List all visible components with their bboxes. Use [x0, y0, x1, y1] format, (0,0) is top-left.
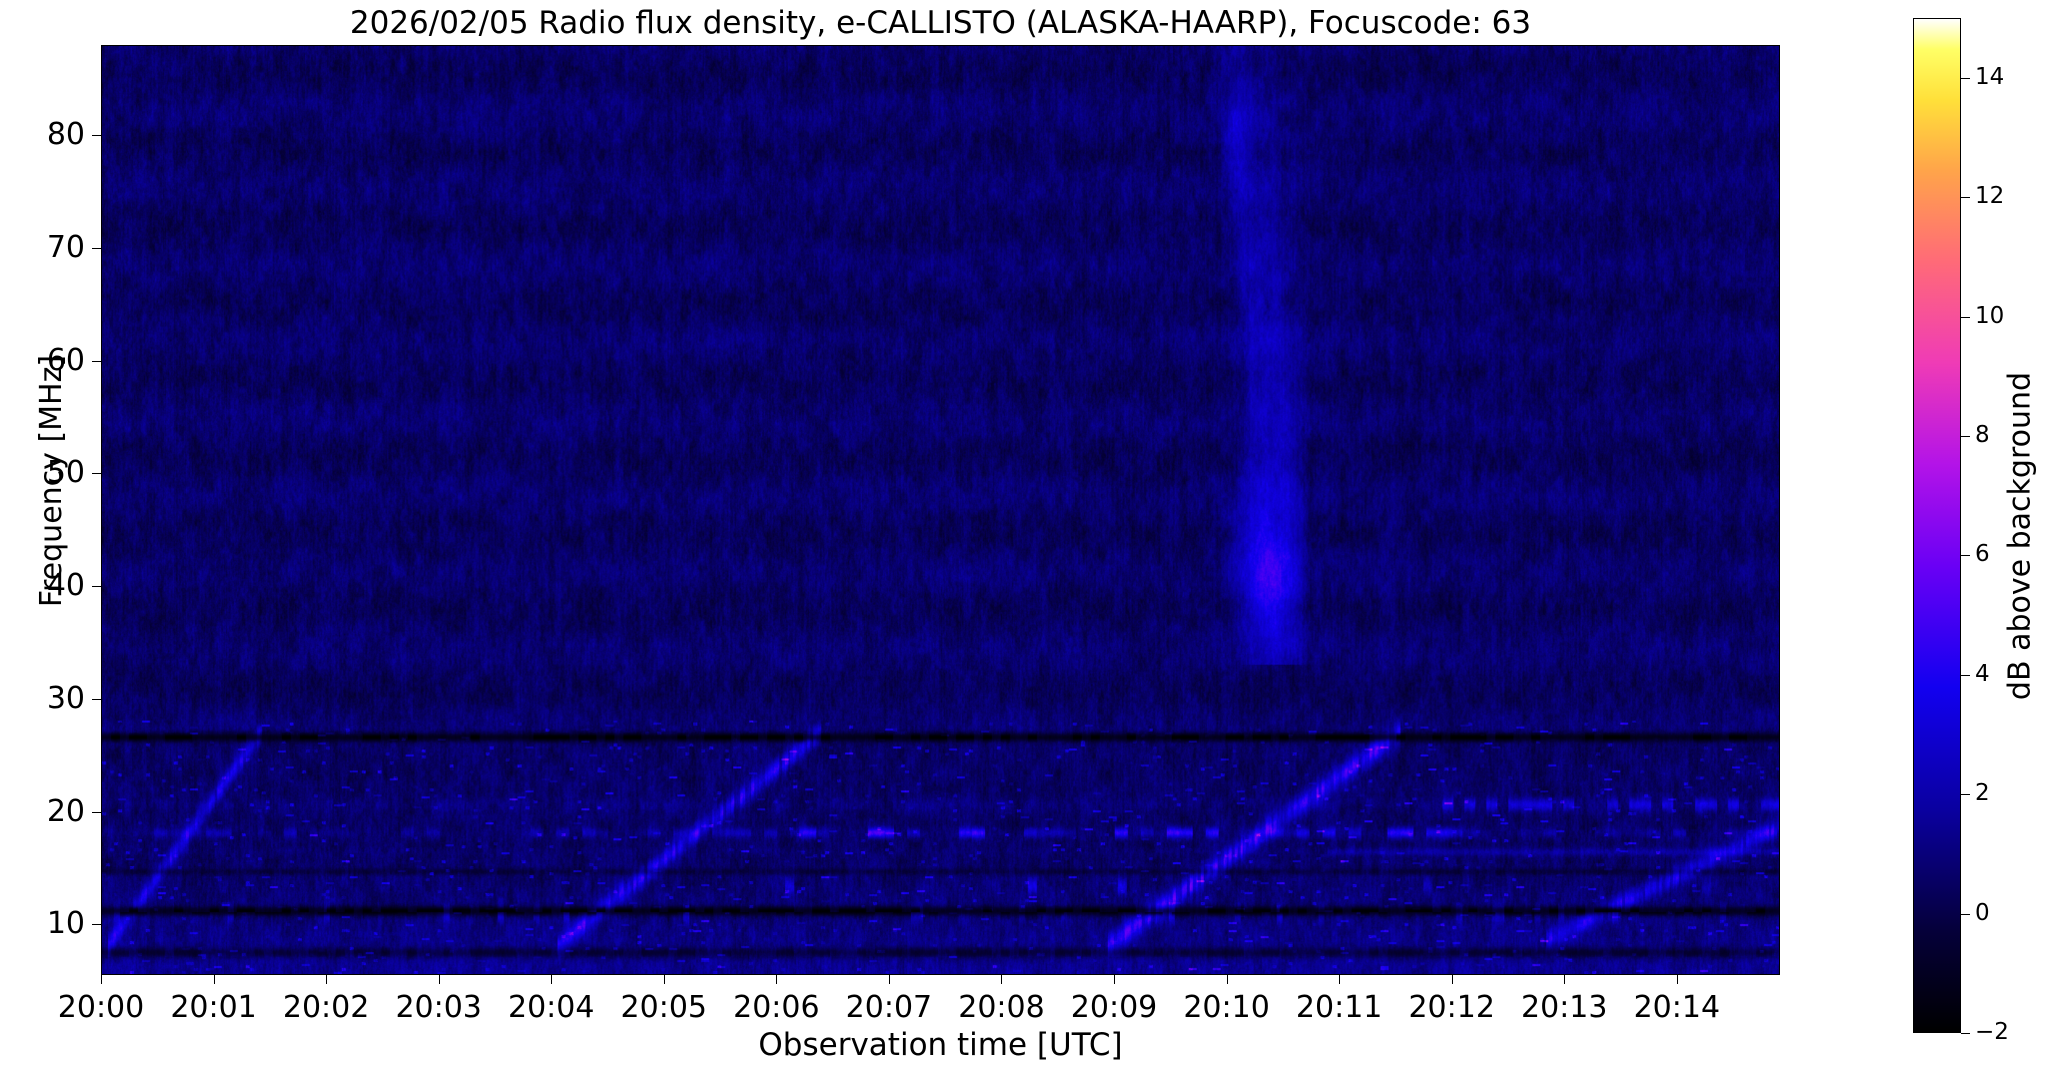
- spectrogram-image: [102, 46, 1779, 974]
- x-tick-label: 20:13: [1521, 992, 1607, 1024]
- y-tick-mark: [92, 135, 101, 136]
- x-tick-label: 20:01: [170, 992, 256, 1024]
- x-tick-label: 20:06: [733, 992, 819, 1024]
- x-tick-label: 20:11: [1296, 992, 1382, 1024]
- x-tick-mark: [889, 975, 890, 984]
- x-tick-label: 20:12: [1408, 992, 1494, 1024]
- x-tick-mark: [1227, 975, 1228, 984]
- y-tick-label: 70: [47, 233, 85, 263]
- colorbar-tick-mark: [1961, 197, 1970, 198]
- x-tick-label: 20:05: [621, 992, 707, 1024]
- y-tick-label: 50: [47, 458, 85, 488]
- x-tick-mark: [664, 975, 665, 984]
- x-tick-label: 20:07: [846, 992, 932, 1024]
- colorbar-tick-label: 4: [1975, 663, 1990, 686]
- x-tick-label: 20:03: [395, 992, 481, 1024]
- x-tick-mark: [326, 975, 327, 984]
- figure-title: 2026/02/05 Radio flux density, e-CALLIST…: [101, 6, 1780, 40]
- colorbar-tick-label: 14: [1975, 66, 2004, 89]
- y-tick-mark: [92, 924, 101, 925]
- x-tick-label: 20:10: [1183, 992, 1269, 1024]
- spectrogram-axes: [101, 45, 1780, 975]
- colorbar-tick-label: 8: [1975, 424, 1990, 447]
- x-tick-label: 20:09: [1071, 992, 1157, 1024]
- y-tick-mark: [92, 248, 101, 249]
- x-tick-label: 20:02: [283, 992, 369, 1024]
- x-tick-label: 20:08: [958, 992, 1044, 1024]
- y-tick-mark: [92, 473, 101, 474]
- x-tick-mark: [1001, 975, 1002, 984]
- x-tick-mark: [1114, 975, 1115, 984]
- colorbar-tick-mark: [1961, 794, 1970, 795]
- y-tick-mark: [92, 812, 101, 813]
- y-tick-label: 20: [47, 797, 85, 827]
- y-tick-label: 80: [47, 120, 85, 150]
- x-axis-label: Observation time [UTC]: [101, 1028, 1780, 1062]
- x-tick-mark: [1677, 975, 1678, 984]
- x-tick-mark: [1452, 975, 1453, 984]
- colorbar-tick-mark: [1961, 675, 1970, 676]
- spectrogram-figure: 2026/02/05 Radio flux density, e-CALLIST…: [0, 0, 2047, 1067]
- y-tick-label: 30: [47, 684, 85, 714]
- x-tick-mark: [1339, 975, 1340, 984]
- colorbar-tick-label: 6: [1975, 543, 1990, 566]
- y-tick-mark: [92, 586, 101, 587]
- y-tick-mark: [92, 699, 101, 700]
- colorbar-tick-mark: [1961, 436, 1970, 437]
- x-tick-mark: [551, 975, 552, 984]
- x-tick-mark: [776, 975, 777, 984]
- colorbar-label: dB above background: [2005, 29, 2037, 1044]
- colorbar-tick-label: 0: [1975, 902, 1990, 925]
- colorbar-tick-mark: [1961, 317, 1970, 318]
- x-tick-mark: [101, 975, 102, 984]
- x-tick-label: 20:14: [1634, 992, 1720, 1024]
- colorbar-tick-mark: [1961, 555, 1970, 556]
- colorbar-tick-label: 10: [1975, 305, 2004, 328]
- colorbar: [1913, 18, 1961, 1033]
- colorbar-tick-label: 12: [1975, 185, 2004, 208]
- x-tick-mark: [439, 975, 440, 984]
- y-tick-mark: [92, 361, 101, 362]
- colorbar-gradient: [1914, 19, 1960, 1032]
- x-tick-label: 20:00: [58, 992, 144, 1024]
- x-tick-mark: [1564, 975, 1565, 984]
- colorbar-tick-label: 2: [1975, 782, 1990, 805]
- y-tick-label: 60: [47, 346, 85, 376]
- x-tick-label: 20:04: [508, 992, 594, 1024]
- y-tick-label: 10: [47, 909, 85, 939]
- colorbar-tick-mark: [1961, 1033, 1970, 1034]
- colorbar-tick-mark: [1961, 914, 1970, 915]
- colorbar-tick-mark: [1961, 78, 1970, 79]
- x-tick-mark: [214, 975, 215, 984]
- y-tick-label: 40: [47, 571, 85, 601]
